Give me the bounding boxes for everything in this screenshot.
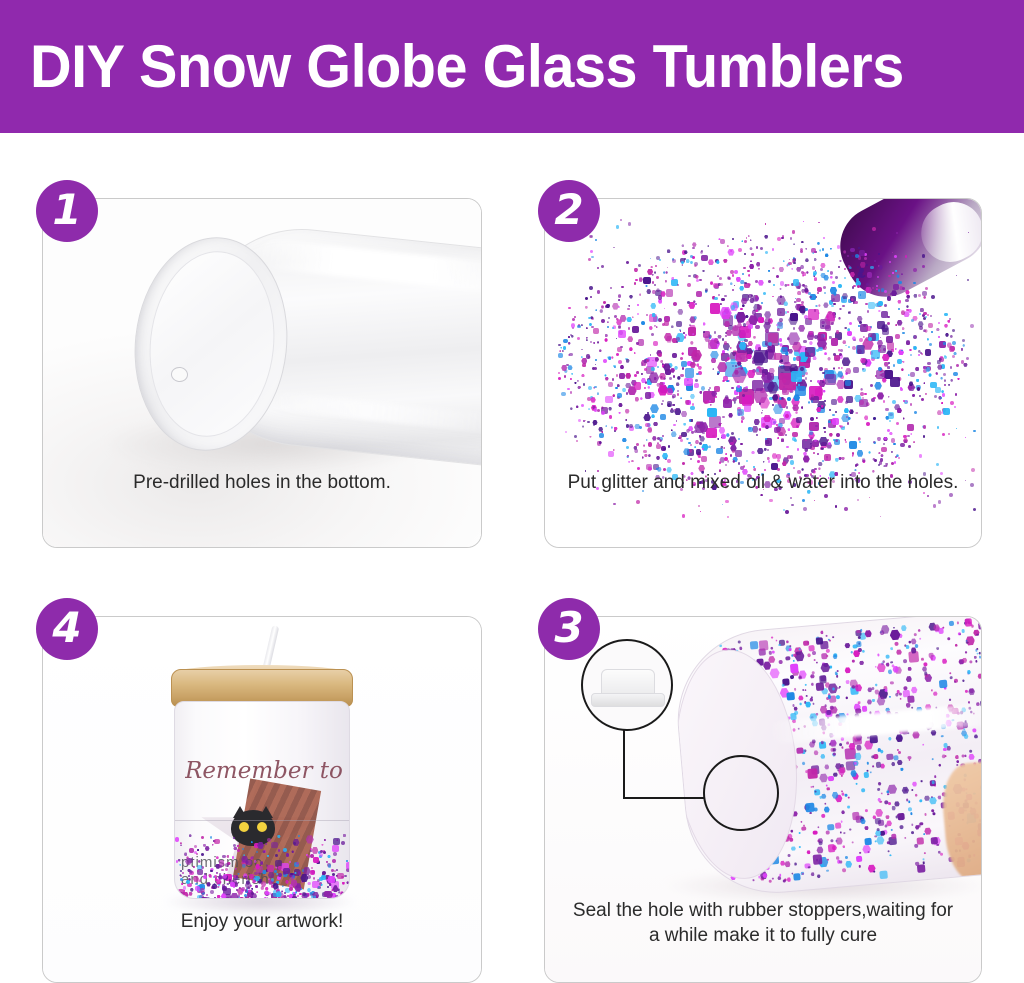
step-1-caption: Pre-drilled holes in the bottom. [43,470,481,495]
artwork-cat-ear-right [259,806,273,818]
step-3-caption-line-2: a while make it to fully cure [545,923,981,948]
artwork-cat-ear-left [233,806,247,818]
page-title: DIY Snow Globe Glass Tumblers [30,32,904,101]
callout-target-circle [703,755,779,831]
step-badge-1: 1 [36,180,98,242]
glitter-filled-tumbler [670,617,981,901]
step-4-caption: Enjoy your artwork! [43,909,481,934]
callout-line-horizontal [623,797,705,799]
step-badge-2: 2 [538,180,600,242]
step-card-4: Remember to sm ptimism ocand cherish Enj… [42,616,482,983]
step-number-3: 3 [554,603,583,652]
step-3-caption-line-1: Seal the hole with rubber stoppers,waiti… [545,898,981,923]
water-line [175,820,349,821]
callout-detail-circle [581,639,673,731]
callout-line-vertical [623,727,625,799]
step-card-3: Seal the hole with rubber stoppers,waiti… [544,616,982,983]
step-number-1: 1 [52,185,81,234]
glass-tumbler-body: Remember to sm ptimism ocand cherish [174,701,350,899]
step-number-4: 4 [52,603,81,652]
suspended-glitter [175,824,349,898]
step-card-2: Put glitter and mixed oil & water into t… [544,198,982,548]
step-number-2: 2 [554,185,583,234]
step-2-caption: Put glitter and mixed oil & water into t… [545,470,981,495]
step-3-caption: Seal the hole with rubber stoppers,waiti… [545,898,981,948]
step-badge-3: 3 [538,598,600,660]
artwork-script-text: Remember to sm [185,758,350,788]
steps-grid: Pre-drilled holes in the bottom. 1 Put g… [0,133,1024,983]
step-badge-4: 4 [36,598,98,660]
page-header: DIY Snow Globe Glass Tumblers [0,0,1024,133]
step-card-1: Pre-drilled holes in the bottom. [42,198,482,548]
rubber-stopper-flange [591,693,665,707]
